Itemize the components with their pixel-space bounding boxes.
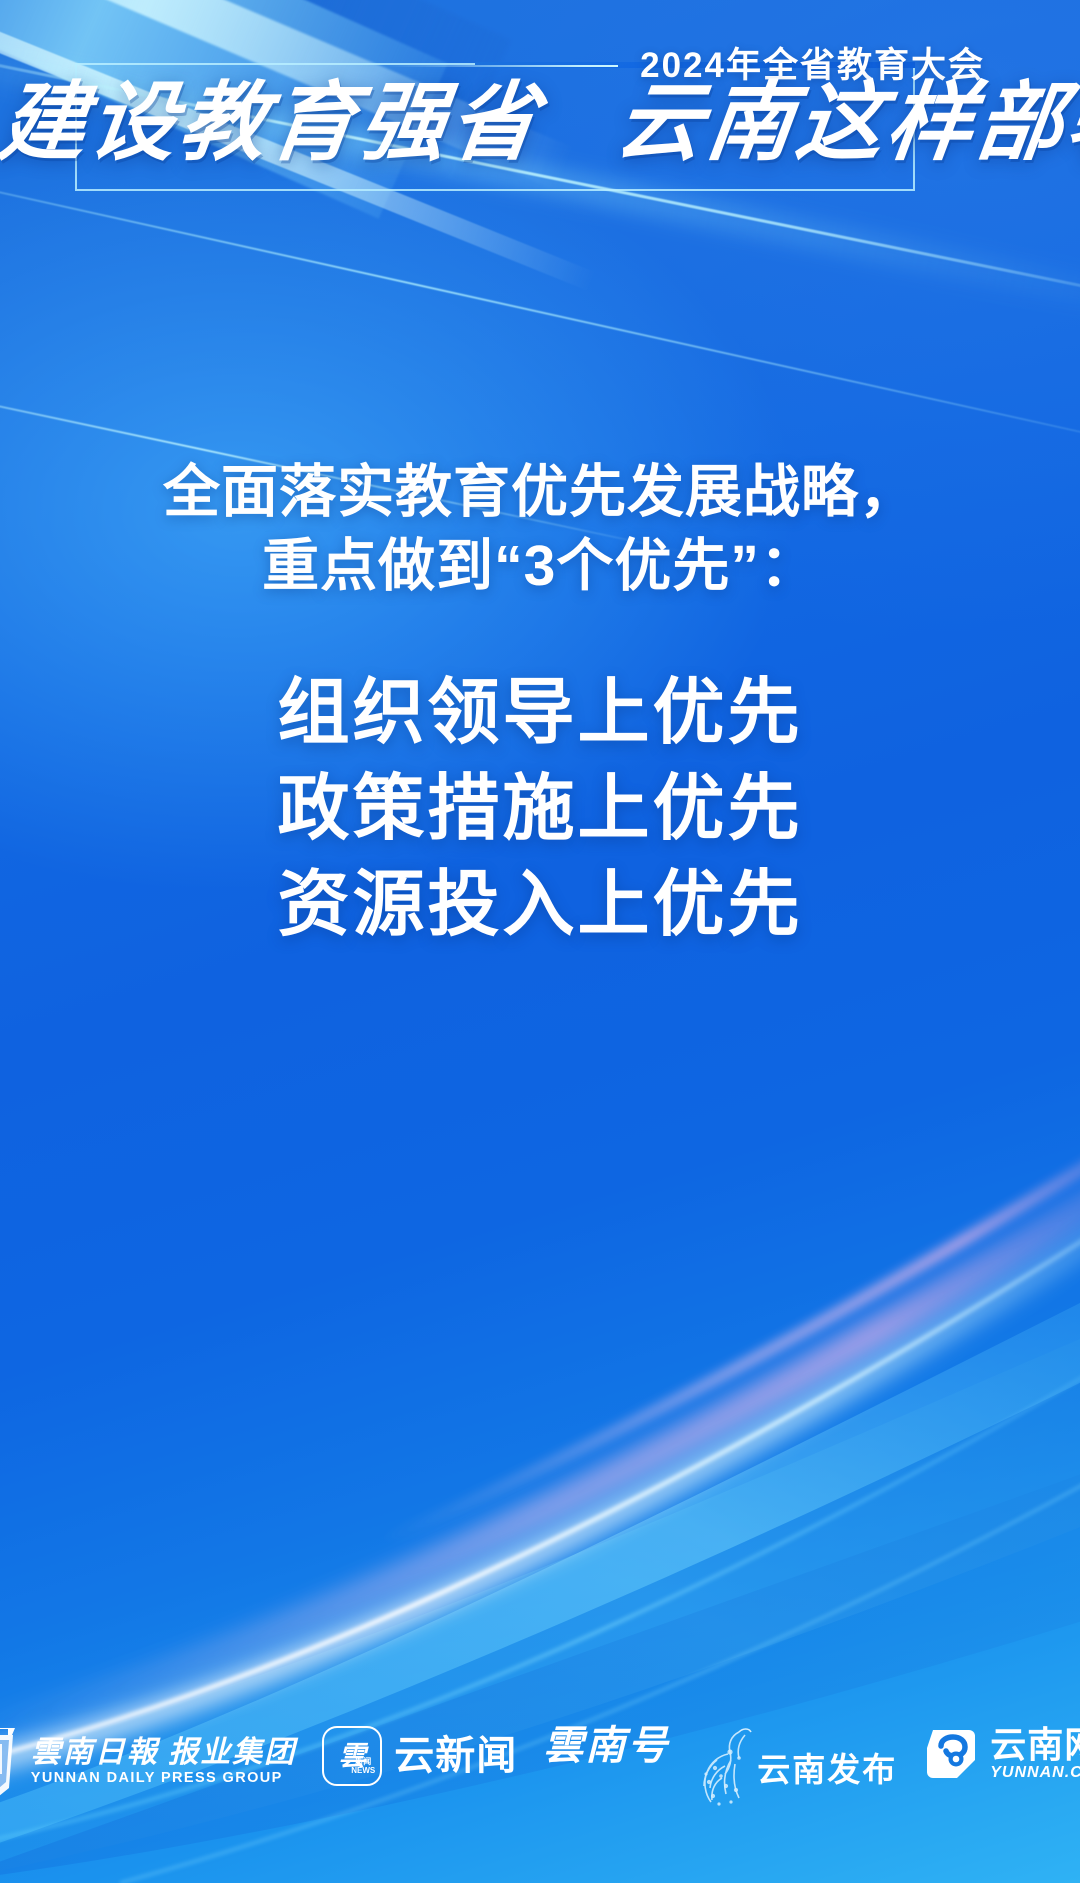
logo-yunnan-hao: 雲南号: [543, 1726, 669, 1766]
footer-logo-row: 雲南日報 报业集团 YUNNAN DAILY PRESS GROUP 雲 新闻 …: [0, 1698, 1080, 1883]
yunnan-daily-cn: 雲南日報 报业集团: [31, 1738, 297, 1768]
page-title-part2: 云南这样部署: [611, 75, 1080, 171]
yunnan-hao-name: 雲南号: [543, 1726, 669, 1766]
poster-header: 2024年全省教育大会 建设教育强省 云南这样部署: [0, 0, 1080, 215]
yunnan-fabu-name: 云南发布: [757, 1755, 897, 1788]
priority-list: 组织领导上优先 政策措施上优先 资源投入上优先: [0, 665, 1080, 953]
yunnan-wang-cn: 云南网: [990, 1727, 1080, 1763]
kicker-rule: [386, 65, 618, 67]
logo-yunnan-wang: 云南网 YUNNAN.CN: [923, 1726, 1080, 1782]
logo-yunnan-daily-press-group: 雲南日報 报业集团 YUNNAN DAILY PRESS GROUP: [0, 1726, 296, 1798]
yun-news-badge-icon: 雲 新闻 NEWS: [322, 1726, 382, 1786]
message-block: 全面落实教育优先发展战略， 重点做到“3个优先”：: [0, 455, 1080, 603]
yun-news-badge-sub: 新闻 NEWS: [351, 1757, 375, 1775]
priority-item-3: 资源投入上优先: [0, 857, 1080, 953]
yunnan-daily-text: 雲南日報 报业集团 YUNNAN DAILY PRESS GROUP: [31, 1738, 297, 1786]
yun-news-badge-sub-cn: 新闻: [355, 1757, 371, 1766]
page-title-part1: 建设教育强省: [0, 75, 546, 171]
yunnan-wang-en: YUNNAN.CN: [990, 1765, 1080, 1781]
poster-canvas: 2024年全省教育大会 建设教育强省 云南这样部署 全面落实教育优先发展战略， …: [0, 0, 1080, 1883]
message-line-1: 全面落实教育优先发展战略，: [0, 455, 1080, 529]
page-title: 建设教育强省 云南这样部署: [0, 80, 1080, 166]
yunnan-wang-text: 云南网 YUNNAN.CN: [990, 1727, 1080, 1781]
yunnan-daily-en: YUNNAN DAILY PRESS GROUP: [31, 1771, 297, 1786]
logo-yunnan-fabu: 云南发布: [695, 1726, 897, 1816]
priority-item-2: 政策措施上优先: [0, 761, 1080, 857]
yunnan-daily-mark-icon: [0, 1726, 19, 1798]
yun-news-badge-sub-en: NEWS: [351, 1766, 375, 1775]
priority-item-1: 组织领导上优先: [0, 665, 1080, 761]
yunnan-wang-mark-icon: [923, 1726, 979, 1782]
peacock-icon: [695, 1726, 767, 1816]
logo-yun-news: 雲 新闻 NEWS 云新闻: [322, 1726, 517, 1786]
message-line-2: 重点做到“3个优先”：: [0, 529, 1080, 603]
yun-news-name: 云新闻: [394, 1736, 517, 1776]
